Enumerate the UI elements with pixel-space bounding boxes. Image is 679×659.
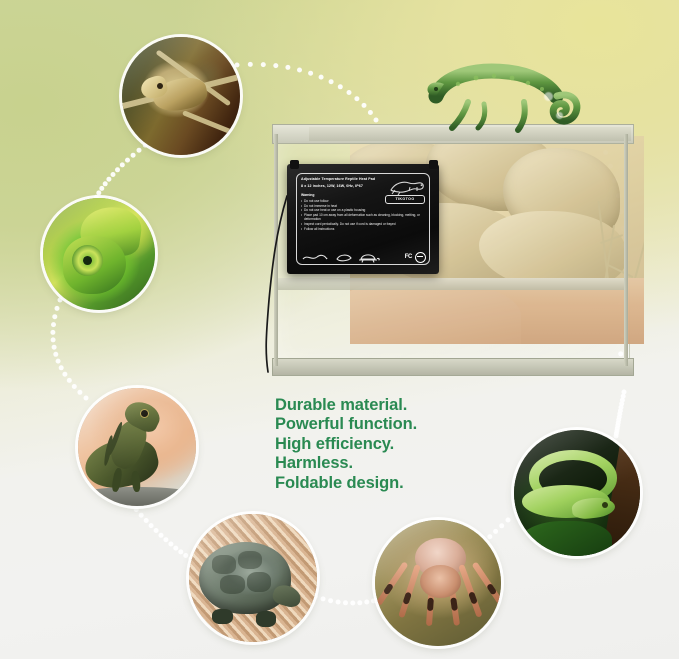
pad-warning-heading: Warning [301, 193, 314, 197]
headline-line: Powerful function. [275, 415, 515, 434]
reptile-heat-pad: Adjustable Temperature Reptile Heat Pad … [287, 164, 439, 274]
bubble-agama[interactable] [78, 388, 196, 506]
pad-clip-left [290, 160, 299, 169]
headline-line: Durable material. [275, 396, 515, 415]
feature-headline: Durable material. Powerful function. Hig… [275, 396, 515, 493]
bubble-chameleon-face[interactable] [43, 198, 155, 310]
pad-pet-icons [301, 250, 397, 264]
bubble-lizard-branch[interactable] [122, 37, 240, 155]
pad-certifications: FC [405, 251, 426, 263]
headline-line: High efficiency. [275, 435, 515, 454]
pad-clip-right [429, 160, 438, 169]
bubble-turtle[interactable] [189, 514, 317, 642]
brand-logo: TIKOTOO [383, 178, 427, 208]
pad-warning-item: Follow all instructions [301, 227, 427, 232]
tank-base-frame [272, 358, 634, 376]
headline-line: Foldable design. [275, 474, 515, 493]
snake-icon [303, 255, 327, 259]
gecko-icon [383, 178, 427, 196]
bokeh-dot [544, 92, 553, 101]
product-banner: Adjustable Temperature Reptile Heat Pad … [0, 0, 679, 659]
brand-name: TIKOTOO [385, 195, 425, 204]
tank-post-right [624, 134, 628, 366]
turtle-icon [359, 255, 379, 263]
headline-line: Harmless. [275, 454, 515, 473]
tank-post-left [274, 134, 278, 366]
gecko-icon [337, 255, 351, 261]
pad-title: Adjustable Temperature Reptile Heat Pad [301, 177, 375, 181]
pad-spec: 8 x 12 inches, 12W, 16W, 0Hz, IP67 [301, 184, 363, 188]
chameleon-illustration [424, 52, 608, 138]
bubble-tarantula[interactable] [375, 520, 501, 646]
weee-icon [415, 252, 426, 263]
tank-mid-rail [276, 278, 628, 290]
bokeh-dot [556, 112, 563, 119]
fc-mark: FC [405, 254, 412, 260]
pad-warning-item: Place pad 10 cm away from all deformatio… [301, 213, 427, 222]
bubble-viper[interactable] [514, 430, 640, 556]
